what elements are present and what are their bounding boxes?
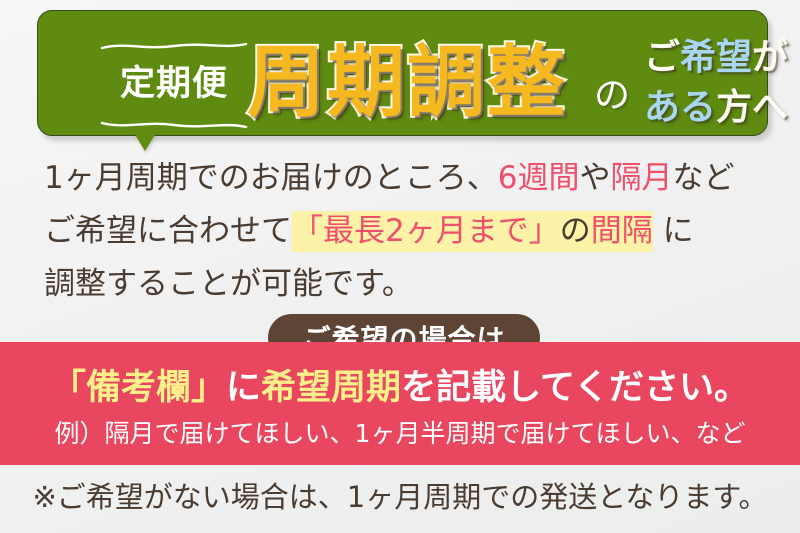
promo-banner: 定期便 周期調整 の ご希望が ある方へ 1ヶ月周期でのお届けのところ、6週間や… <box>0 0 800 533</box>
title-connector: の <box>594 74 630 118</box>
header-bubble: 定期便 周期調整 の ご希望が ある方へ <box>37 10 768 136</box>
speech-bubble-tail-icon <box>134 133 156 151</box>
subscription-badge: 定期便 <box>100 39 248 131</box>
header-subphrase-line1: ご希望が <box>644 33 800 83</box>
instruction-example-line: 例）隔月で届けてほしい、1ヶ月半周期で届けてほしい、など <box>0 418 800 450</box>
instruction-main-line: 「備考欄」に希望周期を記載してください。 <box>0 366 800 410</box>
header-subphrase-line2: ある方へ <box>644 83 800 133</box>
body-seg-highlight-accent: 「最長2ヶ月まで」 <box>292 211 560 252</box>
body-seg-highlight-accent: 間隔 <box>591 211 653 252</box>
body-paragraph: 1ヶ月周期でのお届けのところ、6週間や隔月など ご希望に合わせて「最長2ヶ月まで… <box>44 152 774 311</box>
subphrase-seg: ご <box>644 37 680 78</box>
body-seg: 1ヶ月周期でのお届けのところ、 <box>44 160 498 196</box>
subscription-badge-label: 定期便 <box>100 53 248 115</box>
instruction-seg-accent: 「備考欄」 <box>51 368 226 408</box>
subphrase-seg: ある <box>644 87 716 128</box>
wave-rule-top-icon <box>100 41 248 52</box>
header-subphrase: ご希望が ある方へ <box>644 33 800 133</box>
body-seg: や <box>579 160 610 196</box>
instruction-seg-accent: 希望周期 <box>261 368 401 408</box>
footer-note: ※ご希望がない場合は、1ヶ月周期での発送となります。 <box>0 478 800 516</box>
body-seg: ご希望に合わせて <box>44 213 292 249</box>
subphrase-seg: が <box>752 37 788 78</box>
page-title: 周期調整 <box>247 33 567 133</box>
body-seg: に <box>653 213 694 249</box>
instruction-band: 「備考欄」に希望周期を記載してください。 例）隔月で届けてほしい、1ヶ月半周期で… <box>0 342 800 465</box>
subphrase-seg: 方へ <box>716 87 788 128</box>
body-seg: 調整することが可能です。 <box>44 266 413 302</box>
wave-rule-bottom-icon <box>100 119 248 130</box>
instruction-seg: を記載してください。 <box>401 368 749 408</box>
body-seg-highlight: の <box>560 211 591 252</box>
body-seg-accent: 6週間 <box>498 160 580 196</box>
body-seg-accent: 隔月 <box>610 160 672 196</box>
body-seg: など <box>672 160 734 196</box>
subphrase-seg: 希望 <box>680 37 752 78</box>
body-line-3: 調整することが可能です。 <box>44 258 774 311</box>
body-line-2: ご希望に合わせて「最長2ヶ月まで」の間隔 に <box>44 205 774 258</box>
body-line-1: 1ヶ月周期でのお届けのところ、6週間や隔月など <box>44 152 774 205</box>
instruction-seg: に <box>226 368 261 408</box>
